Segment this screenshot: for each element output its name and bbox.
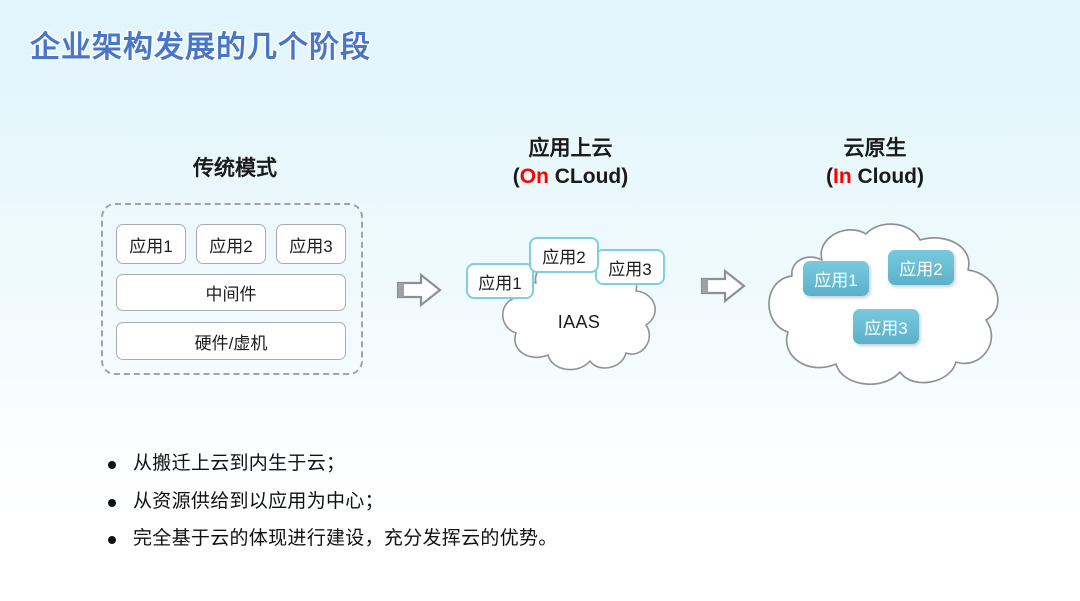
in-cloud-highlight: In [833, 165, 852, 188]
section-heading-on-cloud-en: (On CLoud) [458, 163, 683, 191]
bullet-text: 完全基于云的体现进行建设，充分发挥云的优势。 [133, 527, 558, 552]
traditional-app-box-2[interactable]: 应用2 [196, 224, 266, 264]
section-heading-cloud-native-cn: 云原生 [765, 135, 985, 163]
bullet-dot-icon [108, 536, 116, 544]
on-cloud-app-box-3[interactable]: 应用3 [595, 249, 665, 285]
on-cloud-rest: CLoud [549, 165, 621, 188]
page-title: 企业架构发展的几个阶段 [30, 22, 371, 66]
cloud-native-app-box-1[interactable]: 应用1 [803, 261, 869, 296]
bullet-dot-icon [108, 461, 116, 469]
section-heading-on-cloud-cn: 应用上云 [458, 135, 683, 163]
section-heading-on-cloud: 应用上云 (On CLoud) [458, 135, 683, 190]
bullet-text: 从资源供给到以应用为中心； [133, 490, 384, 515]
right-arrow-icon [396, 272, 442, 308]
on-cloud-highlight: On [520, 165, 549, 188]
slide-canvas: 企业架构发展的几个阶段 传统模式 应用1 应用2 应用3 中间件 硬件/虚机 应… [0, 0, 1080, 601]
iaas-label: IAAS [494, 312, 664, 333]
paren-close: ) [917, 165, 924, 188]
paren-open: ( [826, 165, 833, 188]
traditional-middleware-box[interactable]: 中间件 [116, 274, 346, 311]
list-item: 从资源供给到以应用为中心； [108, 490, 808, 515]
right-arrow-icon [700, 268, 746, 304]
paren-close: ) [621, 165, 628, 188]
cloud-native-app-box-2[interactable]: 应用2 [888, 250, 954, 285]
cloud-native-cloud-shape [758, 218, 1013, 390]
section-heading-cloud-native: 云原生 (In Cloud) [765, 135, 985, 190]
in-cloud-rest: Cloud [852, 165, 917, 188]
list-item: 完全基于云的体现进行建设，充分发挥云的优势。 [108, 527, 808, 552]
cloud-native-app-box-3[interactable]: 应用3 [853, 309, 919, 344]
traditional-hardware-box[interactable]: 硬件/虚机 [116, 322, 346, 360]
traditional-app-box-1[interactable]: 应用1 [116, 224, 186, 264]
bullet-dot-icon [108, 499, 116, 507]
section-heading-traditional: 传统模式 [110, 155, 360, 183]
traditional-app-box-3[interactable]: 应用3 [276, 224, 346, 264]
on-cloud-app-box-1[interactable]: 应用1 [466, 263, 534, 299]
bullet-list: 从搬迁上云到内生于云； 从资源供给到以应用为中心； 完全基于云的体现进行建设，充… [108, 452, 808, 565]
section-heading-cloud-native-en: (In Cloud) [765, 163, 985, 191]
paren-open: ( [513, 165, 520, 188]
list-item: 从搬迁上云到内生于云； [108, 452, 808, 477]
bullet-text: 从搬迁上云到内生于云； [133, 452, 345, 477]
section-heading-traditional-cn: 传统模式 [193, 157, 277, 180]
on-cloud-app-box-2[interactable]: 应用2 [529, 237, 599, 273]
